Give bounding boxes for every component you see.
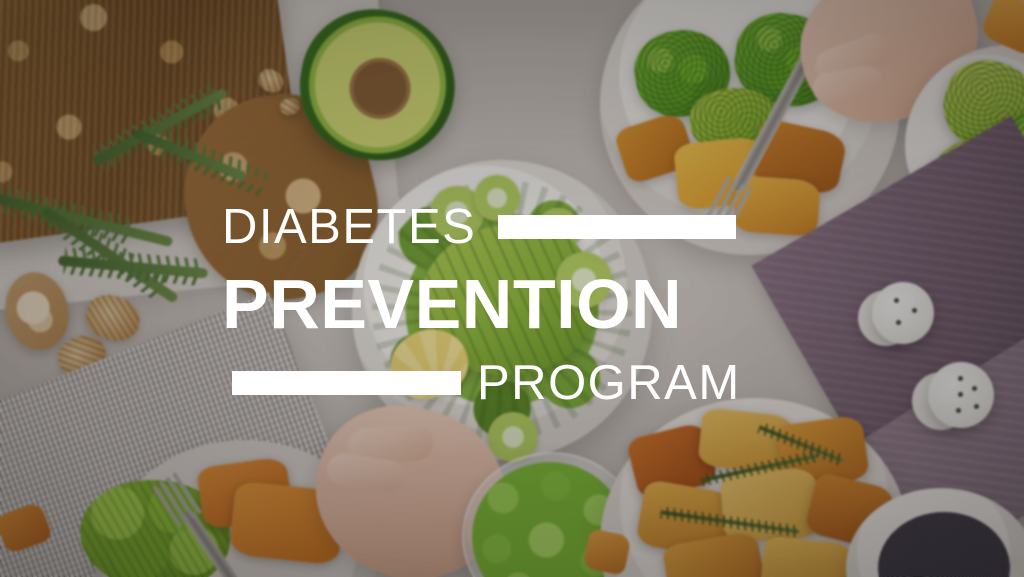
- cucumber-slice: [556, 252, 612, 308]
- background-photo: [0, 0, 1024, 577]
- shaker-hole: [958, 376, 963, 381]
- shaker-hole: [894, 298, 899, 303]
- pepper-shaker: [928, 362, 994, 428]
- shaker-hole: [974, 404, 979, 409]
- cucumber-slice: [474, 175, 520, 221]
- salt-shaker: [872, 282, 934, 344]
- shaker-hole: [956, 408, 961, 413]
- rosemary-sprig: [58, 255, 208, 278]
- shaker-hole: [912, 308, 917, 313]
- shaker-hole: [972, 386, 977, 391]
- diabetes-prevention-banner: DIABETES PREVENTION PROGRAM: [0, 0, 1024, 577]
- shaker-hole: [896, 320, 901, 325]
- shaker-hole: [958, 392, 963, 397]
